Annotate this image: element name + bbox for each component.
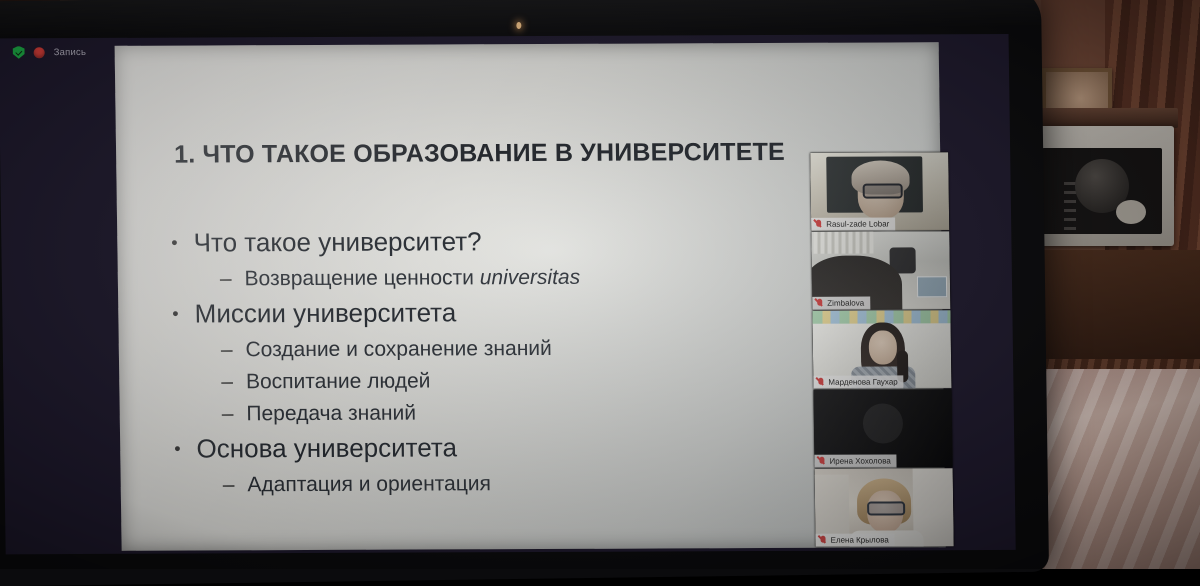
participant-tile[interactable]: Rasul-zade Lobar — [810, 152, 949, 231]
bullet-icon: • — [174, 440, 181, 458]
participant-name-tag: Елена Крылова — [815, 533, 894, 546]
slide-bullet-text: Передача знаний — [246, 401, 416, 428]
participant-filmstrip[interactable]: Rasul-zade LobarZimbalovaМарденова Гауха… — [810, 152, 954, 548]
participant-name: Rasul-zade Lobar — [826, 219, 889, 228]
laptop: Запись Вы просматриваете экран Анастасии… — [0, 0, 1049, 586]
slide-bullet-level1: •Основа университета — [174, 431, 914, 466]
mic-muted-icon — [817, 377, 824, 387]
bullet-icon: • — [172, 305, 179, 323]
meeting-status-strip: Запись — [13, 44, 87, 60]
participant-name-tag: Rasul-zade Lobar — [811, 217, 895, 230]
dash-icon: – — [221, 337, 233, 363]
video-detail-glass — [863, 183, 903, 198]
mic-muted-icon — [820, 535, 827, 545]
mic-muted-icon — [818, 456, 825, 466]
dash-icon: – — [220, 266, 232, 292]
participant-name: Марденова Гаухар — [828, 377, 897, 386]
stereo-disc — [1116, 200, 1146, 224]
video-detail-panell — [815, 475, 850, 539]
shelf — [1028, 108, 1178, 128]
participant-name-tag: Марденова Гаухар — [813, 375, 904, 388]
slide-bullet-text: Миссии университета — [194, 297, 456, 330]
participant-name: Елена Крылова — [831, 535, 889, 544]
participant-name-tag: Zimbalova — [812, 297, 870, 310]
slide-body: •Что такое университет?–Возвращение ценн… — [165, 224, 915, 505]
slide-bullet-text: Основа университета — [196, 433, 457, 466]
stereo-system — [1028, 126, 1174, 246]
slide-bullet-emphasis: universitas — [480, 266, 581, 289]
dash-icon: – — [223, 472, 235, 498]
participant-tile[interactable]: Елена Крылова — [815, 468, 954, 547]
mic-muted-icon — [816, 298, 823, 308]
slide-title: 1. ЧТО ТАКОЕ ОБРАЗОВАНИЕ В УНИВЕРСИТЕТЕ — [174, 138, 785, 170]
slide-bullet-level1: •Миссии университета — [172, 295, 912, 330]
zoom-window: Запись Вы просматриваете экран Анастасии… — [0, 34, 1016, 554]
participant-name: Ирена Хохолова — [829, 456, 890, 465]
participant-tile[interactable]: Zimbalova — [811, 231, 950, 310]
dash-icon: – — [222, 402, 234, 428]
slide-bullet-level2: –Передача знаний — [222, 399, 914, 428]
slide-bullet-text: Воспитание людей — [246, 368, 431, 395]
video-detail-pip — [917, 276, 947, 297]
slide-bullet-level1: •Что такое университет? — [171, 224, 911, 259]
mic-muted-icon — [815, 219, 822, 229]
video-detail-glass — [867, 501, 905, 515]
participant-tile[interactable]: Марденова Гаухар — [812, 310, 951, 389]
slide-bullet-text: Адаптация и ориентация — [247, 471, 491, 498]
slide-bullet-level2: –Создание и сохранение знаний — [221, 334, 913, 363]
participant-name-tag: Ирена Хохолова — [814, 454, 897, 467]
slide-bullet-level2: –Воспитание людей — [221, 366, 913, 395]
shield-check-icon[interactable] — [13, 46, 25, 59]
webcam-led-icon — [516, 22, 521, 29]
recording-label: Запись — [54, 46, 87, 57]
participant-name: Zimbalova — [827, 299, 864, 308]
participant-tile[interactable]: Ирена Хохолова — [813, 389, 952, 468]
slide-bullet-level2: –Возвращение ценности universitas — [220, 263, 912, 292]
stereo-buttons — [1064, 182, 1076, 234]
slide-bullet-text: Что такое университет? — [193, 226, 481, 259]
stereo-face — [1042, 148, 1162, 234]
video-detail-blob — [863, 404, 904, 444]
slide-bullet-text: Возвращение ценности universitas — [244, 265, 580, 293]
video-detail-blind — [813, 232, 873, 254]
video-detail-face — [869, 330, 897, 364]
record-dot-icon[interactable] — [34, 47, 45, 58]
slide-bullet-text: Создание и сохранение знаний — [245, 336, 552, 364]
slide-bullet-level2: –Адаптация и ориентация — [223, 470, 915, 499]
dash-icon: – — [221, 369, 233, 395]
bullet-icon: • — [171, 234, 178, 252]
